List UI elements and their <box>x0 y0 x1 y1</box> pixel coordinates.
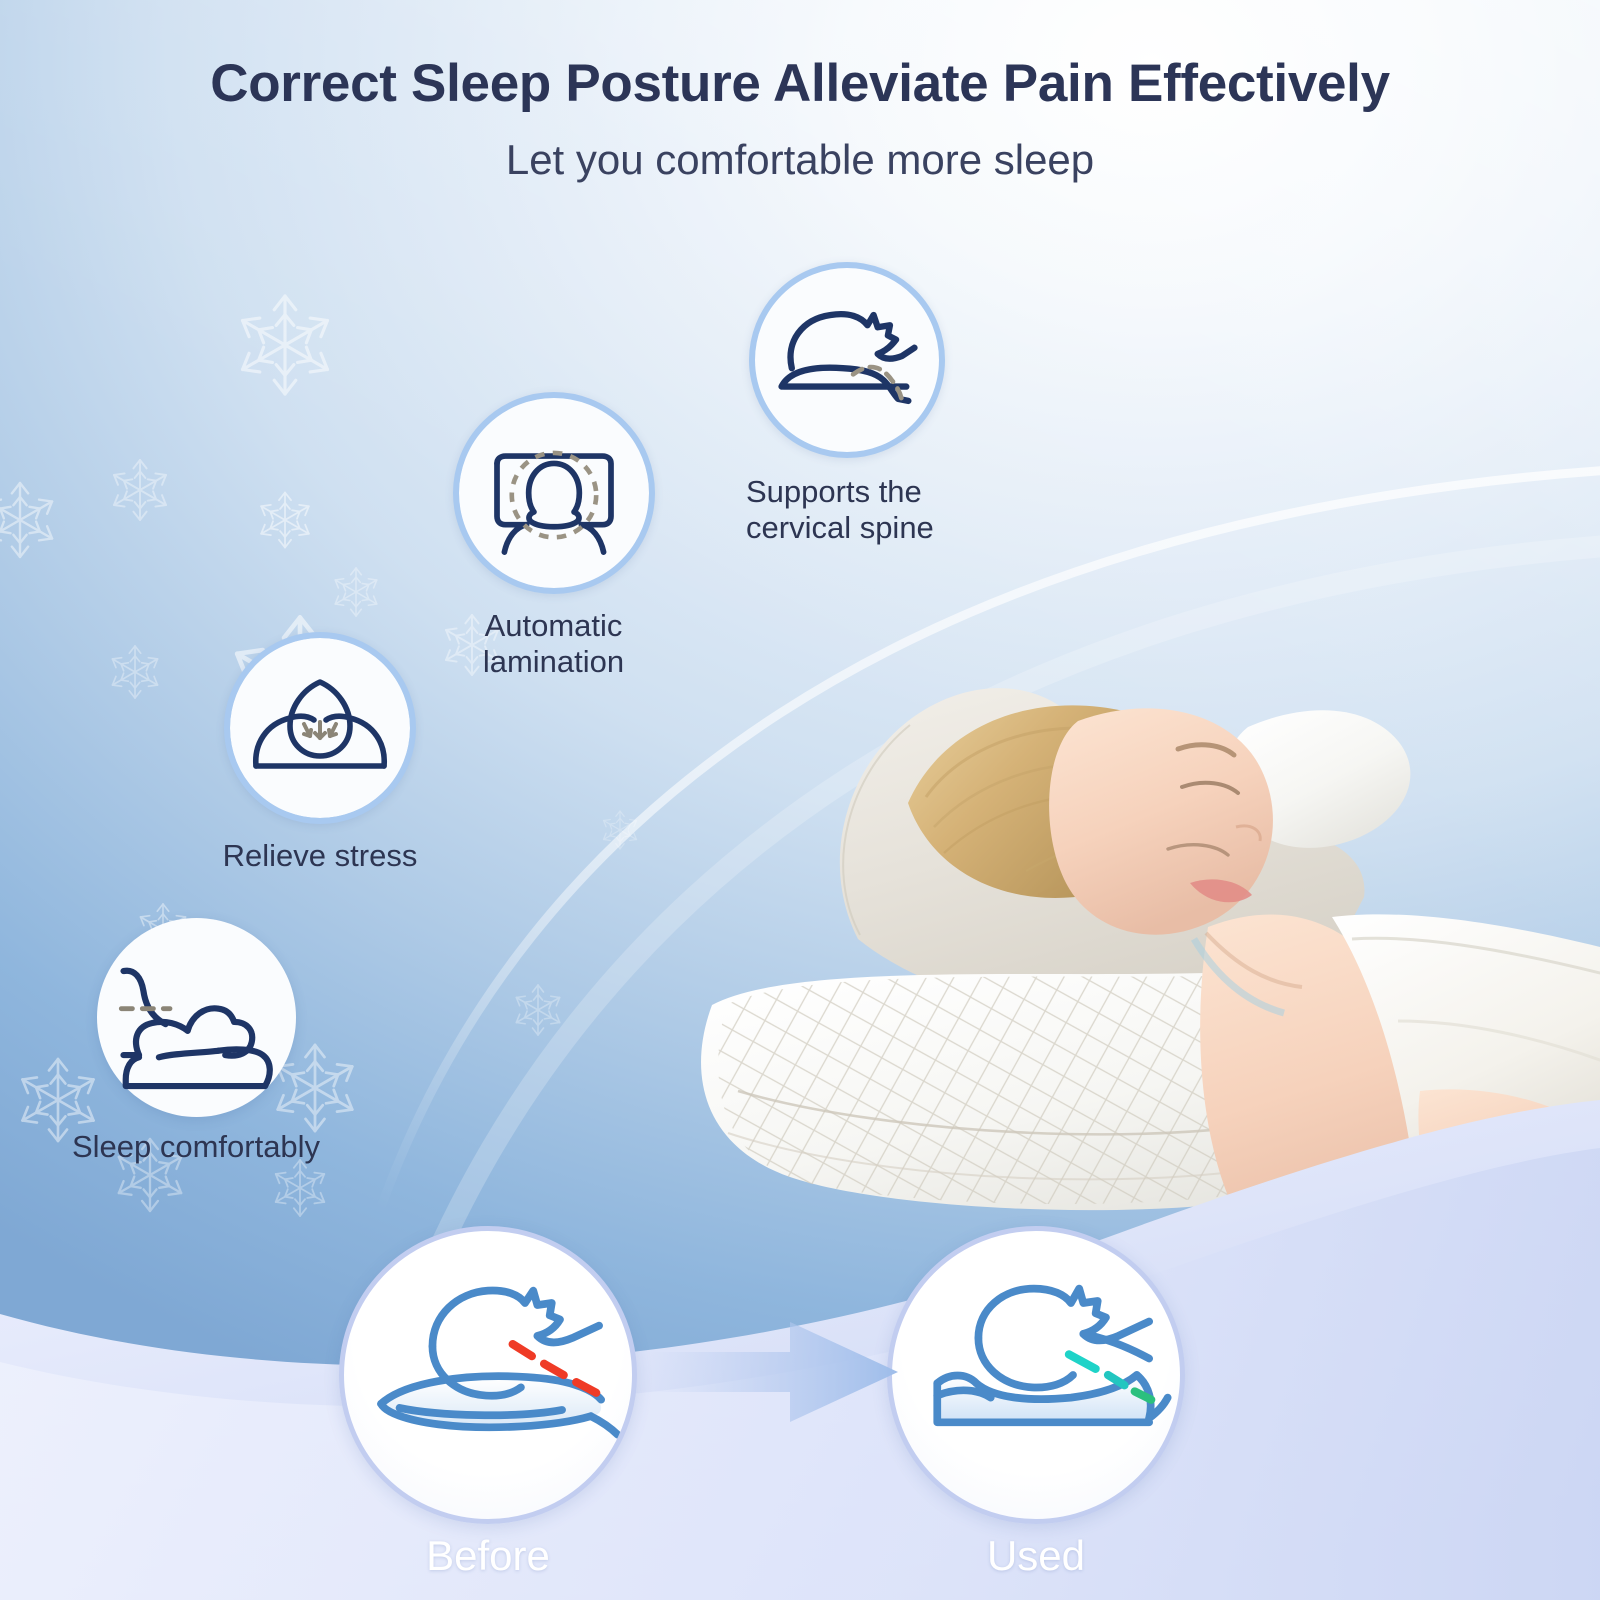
snowflake-icon <box>258 493 312 548</box>
snowflake-icon <box>111 460 170 520</box>
side-sleeper-cervical-support-icon <box>749 262 945 458</box>
page-title: Correct Sleep Posture Alleviate Pain Eff… <box>0 53 1600 114</box>
right-arrow-icon <box>648 1316 898 1428</box>
head-top-view-pressure-arrows-icon <box>224 632 416 824</box>
side-lying-body-pillow-icon <box>97 918 296 1117</box>
comparison-after[interactable]: Used <box>886 1226 1186 1580</box>
feature-label: Automatic lamination <box>437 608 670 680</box>
infographic-root: Correct Sleep Posture Alleviate Pain Eff… <box>0 0 1600 1600</box>
snowflake-icon <box>333 568 380 616</box>
comparison-before[interactable]: Before <box>338 1226 638 1580</box>
snowflake-icon <box>514 985 563 1035</box>
comparison-before-label: Before <box>338 1532 638 1580</box>
page-subtitle: Let you comfortable more sleep <box>0 136 1600 184</box>
feature-label: Supports the cervical spine <box>746 474 1082 546</box>
feature-sleep-comfortably[interactable]: Sleep comfortably <box>96 918 296 1165</box>
flat-pillow-misaligned-spine-icon <box>339 1226 637 1524</box>
comparison-after-label: Used <box>886 1532 1186 1580</box>
snowflake-icon <box>0 483 56 557</box>
feature-label: Sleep comfortably <box>36 1129 356 1165</box>
aligned-spine-line-cyan <box>1069 1354 1096 1368</box>
feature-automatic-lamination[interactable]: Automatic lamination <box>437 392 670 680</box>
head-front-view-pillow-icon <box>453 392 655 594</box>
feature-supports-cervical-spine[interactable]: Supports the cervical spine <box>742 262 1082 546</box>
feature-relieve-stress[interactable]: Relieve stress <box>215 632 425 874</box>
snowflake-icon <box>110 646 161 698</box>
snowflake-icon <box>237 296 333 394</box>
feature-label: Relieve stress <box>190 838 450 874</box>
contour-pillow-aligned-spine-icon <box>887 1226 1185 1524</box>
